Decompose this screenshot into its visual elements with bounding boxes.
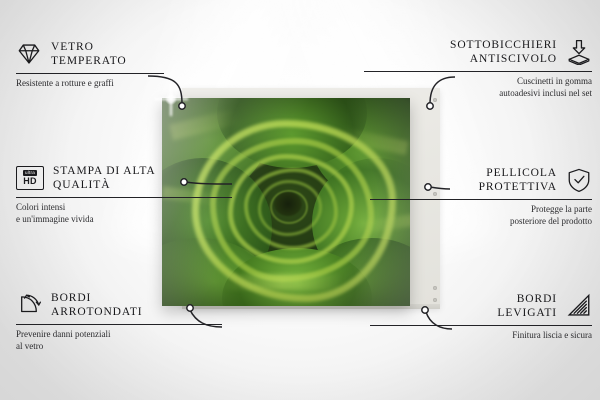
feature-bordi-arrotondati: BORDI ARROTONDATI Prevenire danni potenz…: [16, 291, 244, 352]
feature-subtitle: Resistente a rotture e graffi: [16, 78, 244, 90]
feature-title: BORDI LEVIGATI: [497, 292, 557, 320]
feature-subtitle: Finitura liscia e sicura: [356, 330, 592, 342]
feature-subtitle: Protegge la parte posteriore del prodott…: [356, 204, 592, 227]
divider: [16, 197, 232, 198]
feature-subtitle: Cuscinetti in gomma autoadesivi inclusi …: [348, 76, 592, 99]
shield-check-icon: [566, 167, 592, 193]
ultra-hd-badge-icon: ultra HD: [16, 166, 44, 190]
feature-sottobicchieri-antiscivolo: SOTTOBICCHIERI ANTISCIVOLO Cuscinetti in…: [348, 38, 592, 99]
divider: [16, 73, 164, 74]
feature-stampa-alta-qualita: ultra HD STAMPA DI ALTA QUALITÀ Colori i…: [16, 164, 244, 225]
feature-title: SOTTOBICCHIERI ANTISCIVOLO: [450, 38, 557, 66]
feature-title: BORDI ARROTONDATI: [51, 291, 142, 319]
divider: [364, 71, 592, 72]
rounded-corner-icon: [16, 292, 42, 318]
feature-subtitle: Colori intensi e un'immagine vivida: [16, 202, 244, 225]
anti-slip-pad-icon: [566, 39, 592, 65]
feature-vetro-temperato: VETRO TEMPERATO Resistente a rotture e g…: [16, 40, 244, 90]
feature-bordi-levigati: BORDI LEVIGATI Finitura liscia e sicura: [356, 292, 592, 342]
feature-title: VETRO TEMPERATO: [51, 40, 127, 68]
divider: [370, 325, 592, 326]
divider: [370, 199, 592, 200]
feature-title: STAMPA DI ALTA QUALITÀ: [53, 164, 156, 192]
feature-pellicola-protettiva: PELLICOLA PROTETTIVA Protegge la parte p…: [356, 166, 592, 227]
diamond-icon: [16, 41, 42, 67]
divider: [16, 324, 222, 325]
polished-edge-icon: [566, 293, 592, 319]
feature-title: PELLICOLA PROTETTIVA: [479, 166, 557, 194]
feature-subtitle: Prevenire danni potenziali al vetro: [16, 329, 244, 352]
infographic-canvas: VETRO TEMPERATO Resistente a rotture e g…: [0, 0, 600, 400]
